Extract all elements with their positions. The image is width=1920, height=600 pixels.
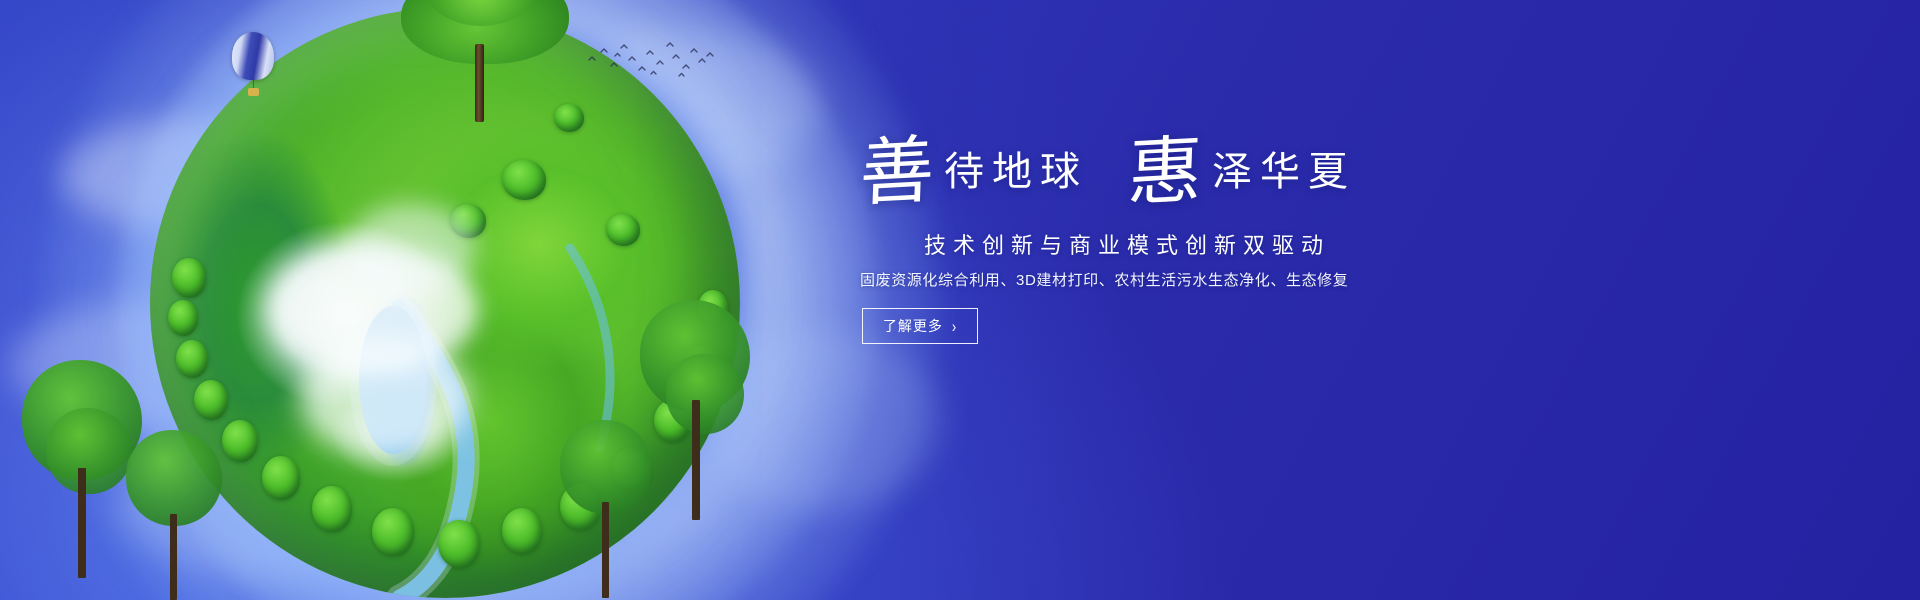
learn-more-label: 了解更多 <box>883 316 943 336</box>
hero-description: 固废资源化综合利用、3D建材打印、农村生活污水生态净化、生态修复 <box>860 270 1330 292</box>
headline-rest-2: 泽华夏 <box>1212 150 1356 194</box>
canopy-tree <box>502 508 542 554</box>
tree-trunk <box>602 502 609 598</box>
headline-phrase-two: 惠泽华夏 <box>1128 128 1356 202</box>
canopy-tree <box>194 380 228 420</box>
flock-of-birds-icon <box>585 40 715 88</box>
tree-crown <box>46 408 132 494</box>
canopy-tree <box>606 214 640 246</box>
foreground-tree <box>640 300 750 530</box>
canopy-tree <box>372 508 414 556</box>
headline-brush-char-1: 善 <box>859 134 936 212</box>
canopy-tree <box>222 420 258 462</box>
learn-more-button[interactable]: 了解更多 › <box>862 308 978 344</box>
tree-trunk <box>78 468 86 578</box>
canopy-tree <box>502 160 546 200</box>
top-tree-icon <box>395 0 575 124</box>
headline-brush-char-2: 惠 <box>1127 134 1204 212</box>
foreground-tree <box>22 360 142 590</box>
hot-air-balloon-icon <box>232 32 274 98</box>
tree-trunk <box>170 514 177 600</box>
chevron-right-icon: › <box>952 318 957 334</box>
planet-cloud <box>346 204 476 294</box>
hero-subtitle: 技术创新与商业模式创新双驱动 <box>860 228 1330 260</box>
tree-crown <box>666 354 744 434</box>
canopy-tree <box>262 456 300 500</box>
tree-crown <box>560 420 652 514</box>
tree-trunk <box>692 400 700 520</box>
planet-cloud <box>300 338 470 458</box>
foreground-tree <box>560 420 652 600</box>
canopy-tree <box>312 486 352 532</box>
balloon-basket <box>248 88 259 96</box>
headline-phrase-one: 善待地球 <box>860 128 1088 202</box>
foreground-tree <box>126 430 222 600</box>
hero-banner: 善待地球 惠泽华夏 技术创新与商业模式创新双驱动 固废资源化综合利用、3D建材打… <box>0 0 1920 600</box>
hero-text-block: 善待地球 惠泽华夏 技术创新与商业模式创新双驱动 固废资源化综合利用、3D建材打… <box>860 0 1460 600</box>
canopy-tree <box>176 340 208 378</box>
tree-crown <box>126 430 222 526</box>
canopy-tree <box>438 520 480 568</box>
page-title: 善待地球 惠泽华夏 <box>860 128 1330 214</box>
canopy-tree <box>168 300 198 336</box>
tree-trunk <box>475 44 484 122</box>
headline-rest-1: 待地球 <box>944 150 1088 194</box>
balloon-envelope <box>232 32 274 80</box>
canopy-tree <box>172 258 206 298</box>
